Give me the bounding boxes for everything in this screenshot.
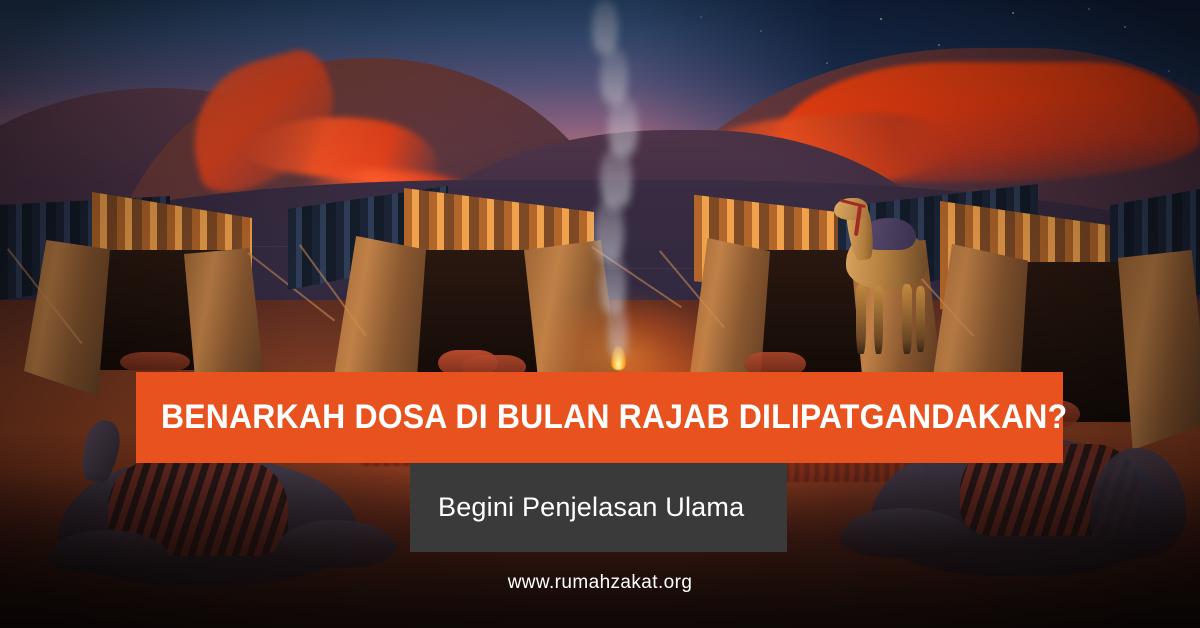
headline-text: BENARKAH DOSA DI BULAN RAJAB DILIPATGAND… (161, 398, 1067, 437)
subtitle-text: Begini Penjelasan Ulama (438, 492, 744, 523)
website-url: www.rumahzakat.org (0, 572, 1200, 594)
subtitle-box: Begini Penjelasan Ulama (410, 463, 787, 552)
article-banner: BENARKAH DOSA DI BULAN RAJAB DILIPATGAND… (0, 0, 1200, 628)
headline-bar: BENARKAH DOSA DI BULAN RAJAB DILIPATGAND… (136, 372, 1063, 463)
